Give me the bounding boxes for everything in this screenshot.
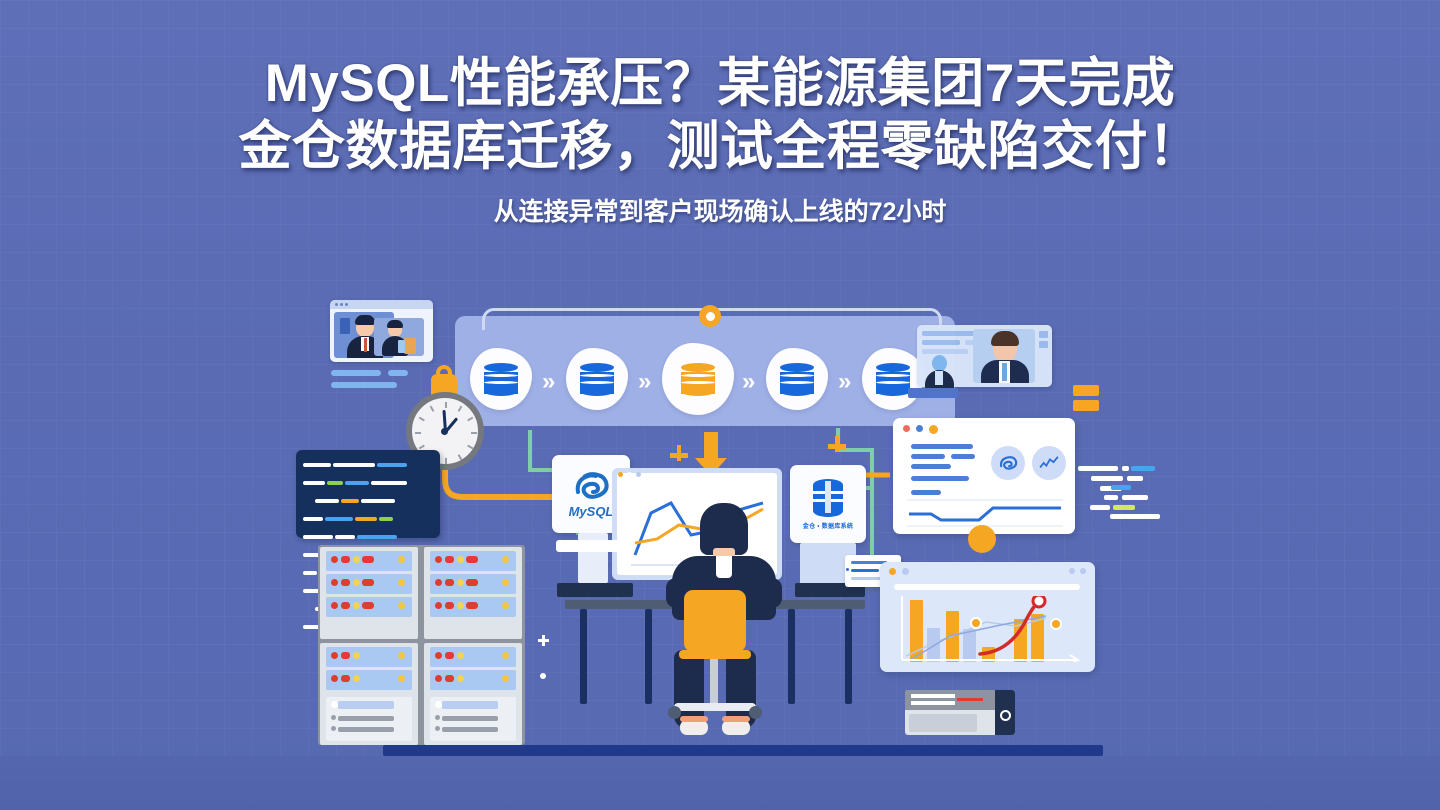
pipeline-chevron-4: » [838, 368, 846, 396]
database-icon-active [681, 363, 715, 395]
storage-unit [430, 697, 516, 741]
person-shoe-right [722, 720, 750, 735]
center-monitor-dots [618, 472, 641, 477]
caption-bar [331, 382, 397, 388]
floor-background [0, 756, 1440, 810]
chair-pole [710, 659, 718, 707]
caption-bar [331, 370, 381, 376]
headline-line-2: 金仓数据库迁移，测试全程零缺陷交付！ [0, 115, 1440, 178]
window-titlebar [330, 300, 433, 309]
orange-marker [1073, 400, 1099, 411]
caption-bar [388, 370, 408, 376]
desk-leg [845, 609, 852, 704]
database-icon [484, 363, 518, 395]
monitoring-dashboard-window[interactable] [893, 418, 1075, 534]
person-arm-right [756, 578, 782, 608]
database-icon [780, 363, 814, 395]
mysql-logo-icon [570, 470, 612, 502]
database-icon [876, 363, 910, 395]
video-participant-main [973, 329, 1035, 383]
printer-device [905, 690, 1015, 735]
results-bar-chart-window[interactable] [880, 562, 1095, 672]
chair-seat [679, 650, 751, 659]
chair-base [674, 703, 756, 711]
desk-leg [788, 609, 795, 704]
video-participant-2 [374, 318, 424, 356]
pipeline-chevron-3: » [742, 368, 750, 396]
kingbase-logo-icon [809, 478, 847, 518]
chair-backrest [684, 590, 746, 652]
chair-caster [749, 706, 762, 719]
database-icon [580, 363, 614, 395]
pipeline-status-dot [699, 305, 721, 327]
code-editor-panel[interactable] [296, 450, 440, 538]
pipeline-chevron-1: » [542, 368, 550, 396]
storage-unit [326, 697, 412, 741]
pipeline-chevron-2: » [638, 368, 646, 396]
bar-chart-plot [896, 596, 1080, 662]
headline-block: MySQL性能承压？某能源集团7天完成 金仓数据库迁移，测试全程零缺陷交付！ 从… [0, 52, 1440, 228]
monitor-kingbase[interactable]: 金仓 • 数据库系统 [790, 465, 866, 543]
chart-window-titlebar [880, 562, 1095, 575]
chair-caster [668, 706, 681, 719]
dashboard-mysql-icon[interactable] [991, 446, 1025, 480]
operator-desk [908, 388, 958, 398]
desk-leg [580, 609, 587, 704]
person-shoe-left [680, 720, 708, 735]
accent-dot [968, 525, 996, 553]
desk-leg [645, 609, 652, 704]
orange-marker [1073, 385, 1099, 396]
code-fragment [1078, 466, 1118, 471]
hero-banner: » » » » [0, 0, 1440, 810]
kingbase-caption: 金仓 • 数据库系统 [803, 521, 853, 530]
chart-overlays [896, 596, 1080, 662]
headline-line-1: MySQL性能承压？某能源集团7天完成 [0, 52, 1440, 115]
floor-line [383, 745, 1103, 756]
video-call-window-left[interactable] [330, 300, 433, 362]
headline-subtitle: 从连接异常到客户现场确认上线的72小时 [0, 192, 1440, 228]
mysql-caption: MySQL [569, 504, 614, 519]
dashboard-trend-icon[interactable] [1032, 446, 1066, 480]
dashboard-titlebar [893, 418, 1075, 434]
